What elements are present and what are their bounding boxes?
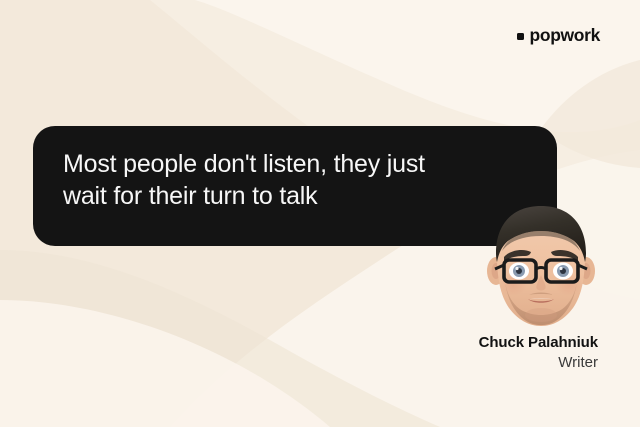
quote-text: Most people don't listen, they just wait…: [63, 148, 527, 212]
author-name: Chuck Palahniuk: [479, 333, 598, 352]
memoji-avatar-icon: [483, 203, 599, 329]
square-dot-icon: [517, 33, 524, 40]
attribution: Chuck Palahniuk Writer: [479, 333, 598, 372]
quote-card: Most people don't listen, they just wait…: [33, 126, 557, 246]
brand-logo-text: popwork: [530, 27, 600, 45]
quote-card-canvas: popwork Most people don't listen, they j…: [0, 0, 640, 427]
brand-logo[interactable]: popwork: [517, 27, 600, 45]
author-role: Writer: [479, 353, 598, 372]
